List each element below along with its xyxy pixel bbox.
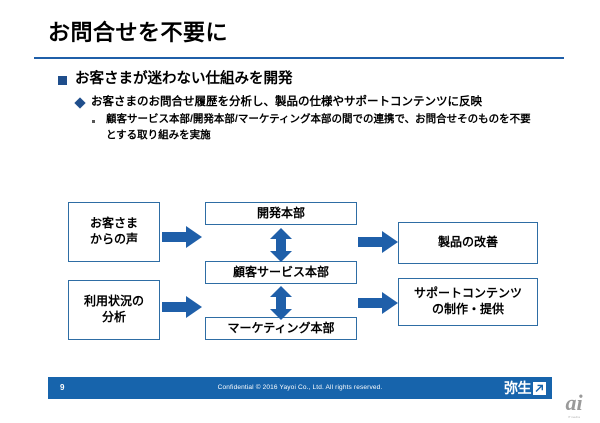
arrow-right-icon-usage-to-mkt bbox=[162, 296, 202, 318]
diagram-box-usage-analysis[interactable]: 利用状況の 分析 bbox=[68, 280, 160, 340]
title-block: お問合せを不要に bbox=[48, 20, 552, 45]
diagram-box-marketing-div[interactable]: マーケティング本部 bbox=[205, 317, 357, 340]
bullet-list: お客さまが迷わない仕組みを開発 お客さまのお問合せ履歴を分析し、製品の仕様やサポ… bbox=[58, 70, 558, 144]
bullet-level3: 顧客サービス本部/開発本部/マーケティング本部の間での連携で、お問合せそのものを… bbox=[92, 112, 558, 144]
page-title: お問合せを不要に bbox=[48, 20, 552, 45]
square-bullet-icon bbox=[58, 76, 67, 85]
diagram-box-customer-service-div[interactable]: 顧客サービス本部 bbox=[205, 261, 357, 284]
diagram-box-support-content[interactable]: サポートコンテンツ の制作・提供 bbox=[398, 278, 538, 326]
bullet-level1-label: お客さまが迷わない仕組みを開発 bbox=[75, 70, 293, 90]
bullet-level2: お客さまのお問合せ履歴を分析し、製品の仕様やサポートコンテンツに反映 bbox=[76, 94, 558, 111]
slide-canvas: お問合せを不要に お客さまが迷わない仕組みを開発 お客さまのお問合せ履歴を分析し… bbox=[0, 0, 600, 423]
arrow-up-down-icon-cs-mkt bbox=[268, 286, 294, 320]
title-divider bbox=[34, 57, 564, 59]
diagram-box-development-div[interactable]: 開発本部 bbox=[205, 202, 357, 225]
diagram-box-product-improvement[interactable]: 製品の改善 bbox=[398, 222, 538, 264]
process-diagram: お客さま からの声 利用状況の 分析 開発本部 顧客サービス本部 マーケティング… bbox=[0, 0, 600, 423]
dot-bullet-icon bbox=[92, 120, 95, 123]
arrow-up-right-icon bbox=[533, 382, 546, 395]
diagram-box-customer-voice-label: お客さま からの声 bbox=[90, 216, 138, 247]
ai-watermark: ai ITmedia bbox=[554, 392, 594, 419]
arrow-right-icon-to-improvement bbox=[358, 231, 398, 253]
diagram-box-customer-voice[interactable]: お客さま からの声 bbox=[68, 202, 160, 262]
diagram-box-support-content-label: サポートコンテンツ の制作・提供 bbox=[414, 286, 522, 317]
ai-watermark-mark: ai bbox=[554, 392, 594, 414]
bullet-level2-label: お客さまのお問合せ履歴を分析し、製品の仕様やサポートコンテンツに反映 bbox=[91, 94, 543, 111]
arrow-up-down-icon-dev-cs bbox=[268, 228, 294, 262]
yayoi-logo-text: 弥生 bbox=[504, 381, 531, 395]
diamond-bullet-icon bbox=[74, 97, 85, 108]
diagram-box-usage-analysis-label: 利用状況の 分析 bbox=[84, 294, 144, 325]
arrow-right-icon-voice-to-dev bbox=[162, 226, 202, 248]
arrow-right-icon-to-support bbox=[358, 292, 398, 314]
yayoi-logo: 弥生 bbox=[504, 378, 546, 398]
bullet-level1: お客さまが迷わない仕組みを開発 bbox=[58, 70, 558, 90]
ai-watermark-sub: ITmedia bbox=[554, 415, 594, 419]
footer-bar: 9 Confidential © 2016 Yayoi Co., Ltd. Al… bbox=[48, 377, 552, 399]
bullet-level3-label: 顧客サービス本部/開発本部/マーケティング本部の間での連携で、お問合せそのものを… bbox=[106, 112, 541, 144]
copyright-notice: Confidential © 2016 Yayoi Co., Ltd. All … bbox=[48, 384, 552, 391]
